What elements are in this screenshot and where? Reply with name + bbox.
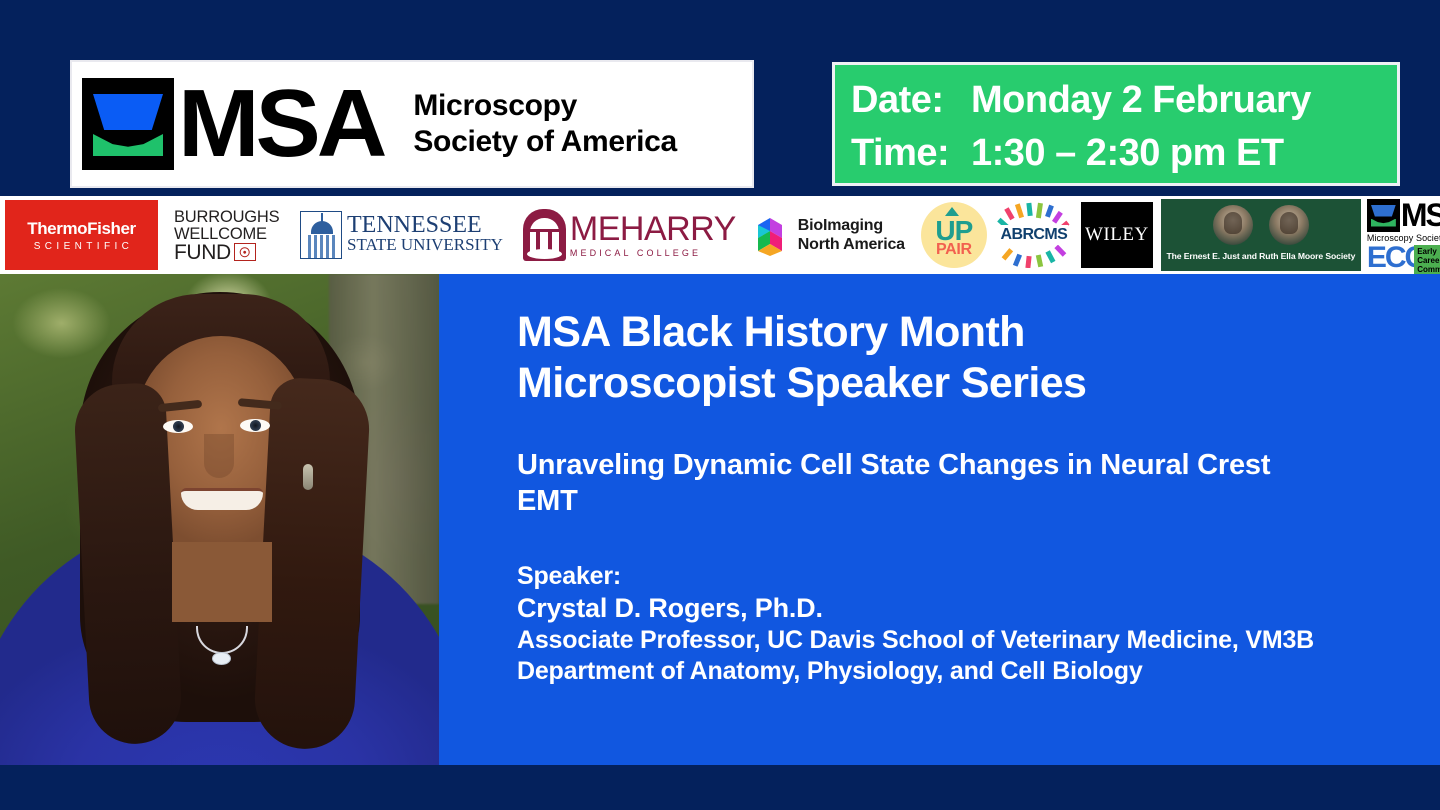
bwf-line3-row: FUND ☉ [174,243,282,261]
speaker-affiliation-line2: Department of Anatomy, Physiology, and C… [517,656,1367,687]
sponsor-abrcms: ABRCMS [987,196,1071,274]
photo-eye-right [240,419,270,432]
arch-icon [523,209,566,261]
bwf-line3: FUND [174,244,231,261]
bioimaging-logo: BioImaging North America [754,214,905,256]
details-panel: MSA Black History Month Microscopist Spe… [439,274,1440,765]
ernest-just-society-logo: The Ernest E. Just and Ruth Ella Moore S… [1161,199,1361,271]
bina-line2: North America [798,235,905,254]
ecc-badge-line3: Committee [1417,265,1440,274]
meharry-line1: MEHARRY [570,212,736,246]
sponsor-thermo-fisher: ThermoFisher SCIENTIFIC [0,196,158,274]
wiley-wordmark: WILEY [1085,224,1149,246]
sponsor-meharry-medical-college: MEHARRY MEDICAL COLLEGE [503,196,736,274]
msa-ecc-top-row: MSA [1367,198,1440,232]
footer-bar [0,765,1440,810]
photo-necklace-pendant [212,652,231,665]
msa-logo-letters: MSA [178,78,383,170]
time-label: Time: [851,127,971,180]
meharry-logo: MEHARRY MEDICAL COLLEGE [523,209,736,261]
sponsor-up-pair: UP PAIR [905,196,987,274]
tsu-line2: STATE UNIVERSITY [347,235,503,254]
date-value: Monday 2 February [971,74,1311,127]
series-title-line1: MSA Black History Month [517,307,1440,358]
wiley-logo: WILEY [1081,202,1153,268]
founder-portraits [1213,205,1309,245]
date-label: Date: [851,74,971,127]
speaker-label: Speaker: [517,561,1367,592]
bwf-line1: BURROUGHS [174,209,282,226]
abrcms-logo: ABRCMS [997,202,1071,268]
msa-logo-mark: MSA [82,78,379,170]
series-title-line2: Microscopist Speaker Series [517,358,1440,409]
up-pair-logo: UP PAIR [921,202,987,268]
photo-smile [181,488,263,510]
bioimaging-wordmark: BioImaging North America [798,216,905,254]
photo-earring [303,464,313,490]
sponsor-tennessee-state-university: TENNESSEE STATE UNIVERSITY [282,196,503,274]
thermo-fisher-logo: ThermoFisher SCIENTIFIC [5,200,158,270]
photo-nose [204,434,234,478]
lens-shape [93,94,163,130]
up-pair-line2: PAIR [936,242,972,257]
speaker-block: Speaker: Crystal D. Rogers, Ph.D. Associ… [517,561,1367,687]
microscope-lens-icon [82,78,174,170]
photo-eye-left [163,420,193,433]
portrait-ernest-just-icon [1213,205,1253,245]
up-arrow-icon [945,207,959,216]
speaker-name: Crystal D. Rogers, Ph.D. [517,592,1367,625]
date-time-box: Date: Monday 2 February Time: 1:30 – 2:3… [832,62,1400,186]
microscope-lens-icon-small [1367,199,1400,232]
msa-ecc-bottom-row: ECC Early Career Committee [1367,244,1440,276]
msa-wordmark-line1: Microscopy [413,88,677,124]
ecc-badge-line1: Early [1417,247,1440,256]
mirror-shape [93,134,163,156]
sponsor-bioimaging-north-america: BioImaging North America [736,196,905,274]
eye-of-horus-icon: ☉ [234,243,256,261]
photo-hair-left [73,382,184,746]
thermo-fisher-tagline: SCIENTIFIC [34,241,134,252]
meharry-line2: MEDICAL COLLEGE [570,248,736,258]
campus-building-icon [300,211,342,259]
sponsor-burroughs-wellcome-fund: BURROUGHS WELLCOME FUND ☉ [158,196,282,274]
sponsor-ernest-just-society: The Ernest E. Just and Ruth Ella Moore S… [1153,196,1361,274]
tennessee-state-logo: TENNESSEE STATE UNIVERSITY [300,211,503,259]
portrait-ruth-moore-icon [1269,205,1309,245]
sponsor-wiley: WILEY [1071,196,1153,274]
ecc-badge-line2: Career [1417,256,1440,265]
msa-wordmark: Microscopy Society of America [413,88,677,160]
msa-logo: MSA Microscopy Society of America [70,60,754,188]
main-content: MSA Black History Month Microscopist Spe… [0,274,1440,765]
speaker-affiliation-line1: Associate Professor, UC Davis School of … [517,625,1367,656]
burroughs-wellcome-logo: BURROUGHS WELLCOME FUND ☉ [174,209,282,261]
tsu-wordmark: TENNESSEE STATE UNIVERSITY [347,216,503,254]
series-title: MSA Black History Month Microscopist Spe… [517,307,1440,409]
webinar-announcement-slide: MSA Microscopy Society of America Date: … [0,0,1440,810]
color-cube-icon [754,214,790,256]
tsu-line1: TENNESSEE [347,216,503,235]
sponsor-msa-early-career-committee: MSA Microscopy Society of America ECC Ea… [1361,196,1440,274]
talk-title: Unraveling Dynamic Cell State Changes in… [517,447,1317,519]
ecc-badge: Early Career Committee [1414,245,1440,276]
date-row: Date: Monday 2 February [851,74,1397,127]
bina-line1: BioImaging [798,216,905,235]
photo-neck [172,542,272,622]
thermo-fisher-name: ThermoFisher [27,219,136,239]
time-row: Time: 1:30 – 2:30 pm ET [851,127,1397,180]
abrcms-wordmark: ABRCMS [1000,225,1069,245]
up-pair-line1: UP [935,218,972,244]
header-bar: MSA Microscopy Society of America Date: … [0,0,1440,196]
time-value: 1:30 – 2:30 pm ET [971,127,1284,180]
ernest-just-society-caption: The Ernest E. Just and Ruth Ella Moore S… [1166,251,1355,261]
meharry-wordmark: MEHARRY MEDICAL COLLEGE [570,212,736,258]
sponsor-logo-strip: ThermoFisher SCIENTIFIC BURROUGHS WELLCO… [0,196,1440,274]
speaker-photo [0,274,439,765]
msa-ecc-logo: MSA Microscopy Society of America ECC Ea… [1367,198,1440,272]
msa-ecc-letters: MSA [1401,199,1440,232]
msa-wordmark-line2: Society of America [413,124,677,160]
